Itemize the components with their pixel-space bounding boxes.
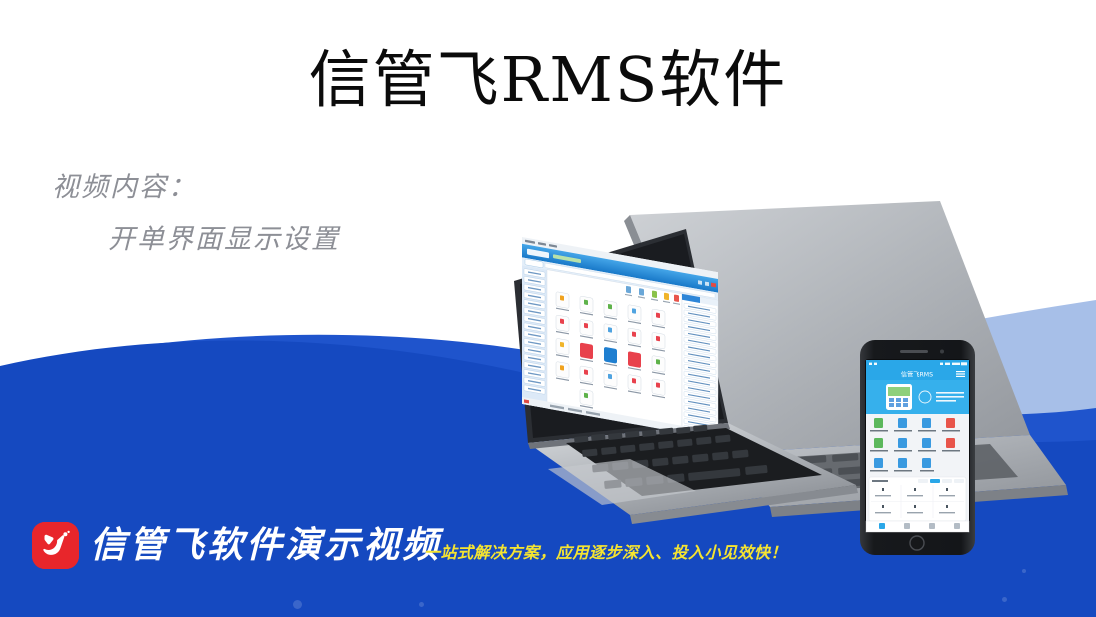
decor-bubble-3 xyxy=(1002,597,1007,602)
page-title: 信管飞RMS软件 xyxy=(0,44,1096,116)
laptop-screen xyxy=(522,237,718,439)
xinguanfei-logo xyxy=(32,522,79,569)
phone-stats-card xyxy=(869,477,966,521)
slide-canvas: 信管飞RMS软件 视频内容： 开单界面显示设置 xyxy=(0,0,1096,617)
phone-menu-icon xyxy=(956,371,965,377)
phone-earpiece xyxy=(900,350,928,353)
phone-front-camera xyxy=(940,350,944,354)
decor-bubble-1 xyxy=(293,600,302,609)
device-cluster: 信管飞RMS xyxy=(470,185,1096,585)
phone-ui: 信管飞RMS xyxy=(866,360,969,532)
phone: 信管飞RMS xyxy=(860,340,975,555)
tagline-text: 一站式解决方案，应用逐步深入、投入小见效快！ xyxy=(424,543,787,563)
decor-bubble-5 xyxy=(419,602,424,607)
brand-text: 信管飞软件演示视频 xyxy=(90,524,441,568)
phone-app-title: 信管飞RMS xyxy=(901,370,933,378)
subtitle-label: 视频内容： xyxy=(52,172,197,203)
decor-bubble-4 xyxy=(1022,569,1026,573)
